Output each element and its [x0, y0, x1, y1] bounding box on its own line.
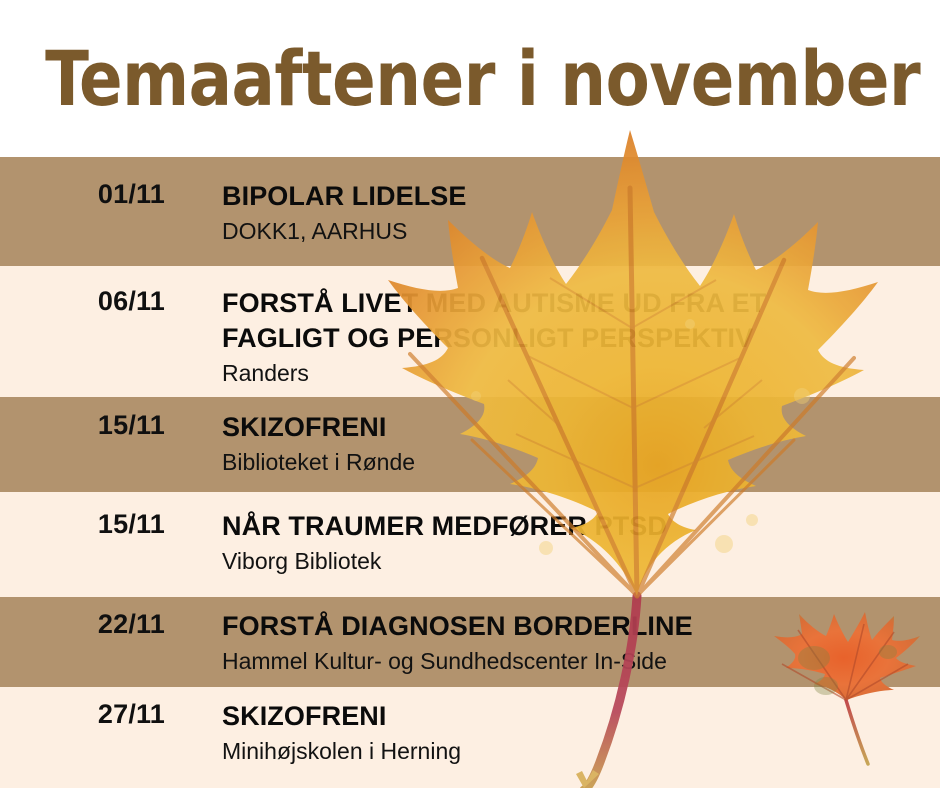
poster-canvas: Temaaftener i november 01/11 BIPOLAR LID… [0, 0, 940, 788]
event-date: 15/11 [0, 509, 165, 540]
schedule-row: 15/11 SKIZOFRENI Biblioteket i Rønde [0, 397, 940, 492]
event-date: 15/11 [0, 410, 165, 441]
page-title: Temaaftener i november [0, 41, 920, 117]
event-date: 01/11 [0, 179, 165, 210]
event-title: SKIZOFRENI [222, 410, 940, 445]
event-title: SKIZOFRENI [222, 699, 940, 734]
event-venue: Hammel Kultur- og Sundhedscenter In-Side [222, 647, 940, 676]
event-title: BIPOLAR LIDELSE [222, 179, 940, 214]
schedule-row: 06/11 FORSTÅ LIVET MED AUTISME UD FRA ET… [0, 266, 940, 397]
event-venue: Biblioteket i Rønde [222, 448, 940, 477]
schedule-row: 15/11 NÅR TRAUMER MEDFØRER PTSD Viborg B… [0, 492, 940, 597]
poster-header: Temaaftener i november [0, 0, 940, 157]
event-venue: Viborg Bibliotek [222, 547, 940, 576]
event-date: 22/11 [0, 609, 165, 640]
event-details: SKIZOFRENI Minihøjskolen i Herning [165, 699, 940, 767]
schedule-row: 27/11 SKIZOFRENI Minihøjskolen i Herning [0, 687, 940, 788]
event-title: NÅR TRAUMER MEDFØRER PTSD [222, 509, 940, 544]
event-details: FORSTÅ DIAGNOSEN BORDERLINE Hammel Kultu… [165, 609, 940, 677]
event-title: FORSTÅ DIAGNOSEN BORDERLINE [222, 609, 940, 644]
schedule-row: 01/11 BIPOLAR LIDELSE DOKK1, AARHUS [0, 157, 940, 266]
event-venue: Randers [222, 359, 940, 388]
event-details: FORSTÅ LIVET MED AUTISME UD FRA ET FAGLI… [165, 286, 940, 389]
event-venue: Minihøjskolen i Herning [222, 737, 940, 766]
schedule-row: 22/11 FORSTÅ DIAGNOSEN BORDERLINE Hammel… [0, 597, 940, 687]
event-details: NÅR TRAUMER MEDFØRER PTSD Viborg Bibliot… [165, 509, 940, 577]
event-date: 27/11 [0, 699, 165, 730]
event-details: BIPOLAR LIDELSE DOKK1, AARHUS [165, 179, 940, 247]
event-details: SKIZOFRENI Biblioteket i Rønde [165, 410, 940, 478]
event-title: FORSTÅ LIVET MED AUTISME UD FRA ET FAGLI… [222, 286, 940, 356]
event-date: 06/11 [0, 286, 165, 317]
event-venue: DOKK1, AARHUS [222, 217, 940, 246]
